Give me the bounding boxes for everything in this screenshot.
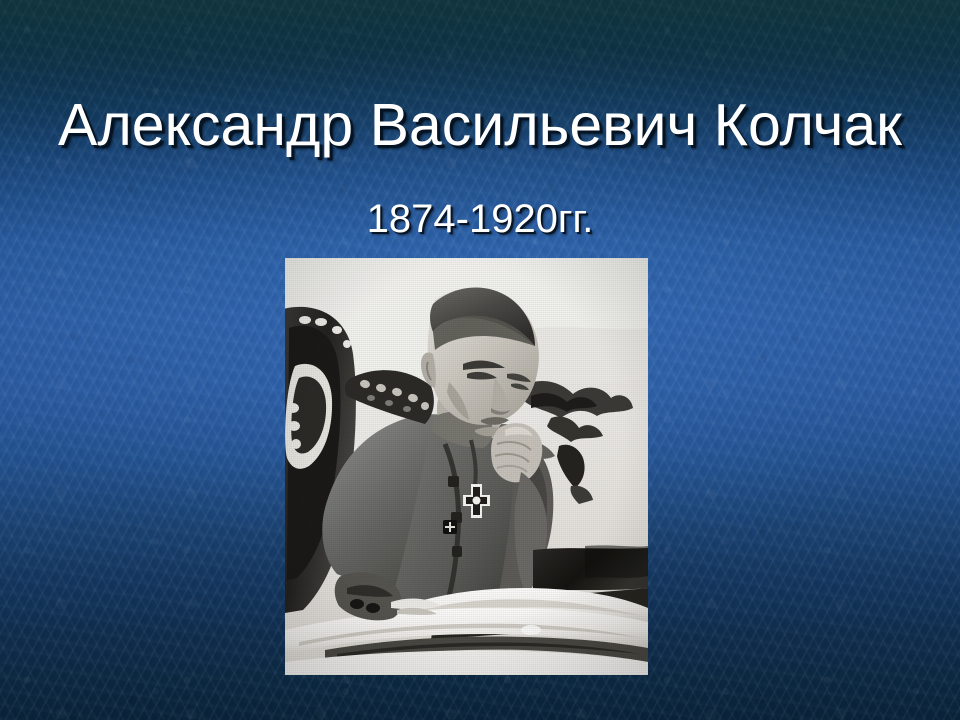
presentation-slide: Александр Васильевич Колчак 1874-1920гг. xyxy=(0,0,960,720)
slide-title: Александр Васильевич Колчак xyxy=(0,96,960,155)
portrait-photograph-image xyxy=(285,258,648,675)
slide-subtitle: 1874-1920гг. xyxy=(0,199,960,239)
portrait-photograph xyxy=(285,258,648,675)
